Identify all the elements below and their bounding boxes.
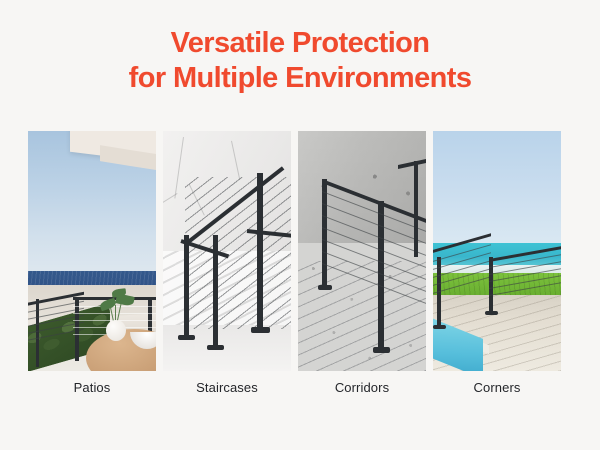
patio-scene-image xyxy=(28,131,156,371)
staircase-post-right xyxy=(257,173,263,329)
caption-corners: Corners xyxy=(433,380,561,395)
gallery-item-staircases[interactable] xyxy=(163,131,291,371)
corridor-post-base xyxy=(318,285,332,290)
promo-banner: Versatile Protection for Multiple Enviro… xyxy=(0,0,600,450)
page-title-line-2: for Multiple Environments xyxy=(0,61,600,96)
corridor-post-corner xyxy=(322,179,327,289)
plant-vase xyxy=(106,320,126,341)
corridor-post-mid xyxy=(378,201,384,351)
environment-gallery xyxy=(28,131,572,371)
caption-staircases: Staircases xyxy=(163,380,291,395)
corridor-post-base xyxy=(373,347,390,353)
corner-post-base xyxy=(485,311,498,315)
caption-patios: Patios xyxy=(28,380,156,395)
gallery-item-patios[interactable] xyxy=(28,131,156,371)
corridor-post-far xyxy=(414,161,418,257)
staircase-post-base xyxy=(207,345,224,350)
corner-post-base xyxy=(433,325,446,329)
staircase-post-mid xyxy=(213,235,218,347)
staircase-post-base xyxy=(251,327,270,333)
staircase-post-left xyxy=(184,235,189,337)
sky xyxy=(433,131,561,253)
corridor-scene-image xyxy=(298,131,426,371)
staircase-scene-image xyxy=(163,131,291,371)
page-title-line-1: Versatile Protection xyxy=(0,26,600,61)
gallery-item-corridors[interactable] xyxy=(298,131,426,371)
caption-corridors: Corridors xyxy=(298,380,426,395)
staircase-floor xyxy=(163,325,291,371)
page-title: Versatile Protection for Multiple Enviro… xyxy=(0,26,600,97)
gallery-captions: Patios Staircases Corridors Corners xyxy=(28,380,572,395)
corner-deck-scene-image xyxy=(433,131,561,371)
concrete-wall xyxy=(298,131,426,251)
plant-stem xyxy=(115,305,116,321)
gallery-item-corners[interactable] xyxy=(433,131,561,371)
staircase-post-base xyxy=(178,335,195,340)
